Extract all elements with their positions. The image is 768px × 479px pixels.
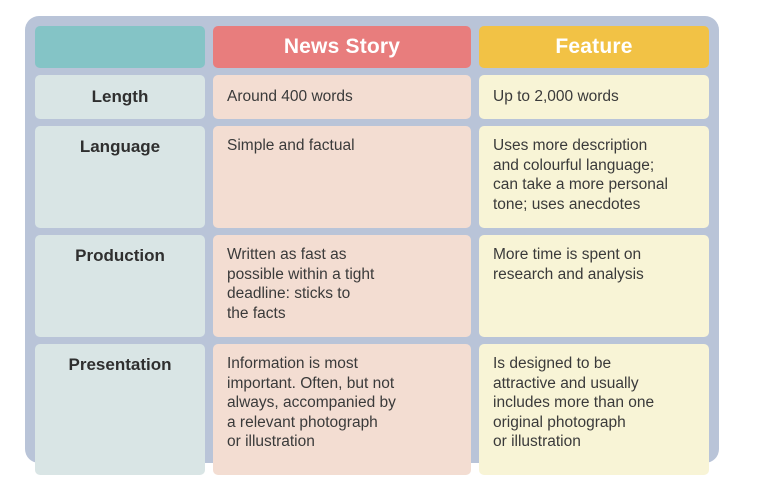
cell-language-feature-text: Uses more description and colourful lang… [493, 136, 695, 214]
comparison-table: News Story Feature Length Around 400 wor… [25, 16, 719, 463]
cell-presentation-feature-text: Is designed to be attractive and usually… [493, 354, 695, 452]
row-label-production: Production [35, 235, 205, 337]
cell-language-news-text: Simple and factual [227, 136, 457, 156]
table-header-corner [35, 26, 205, 68]
table-grid: News Story Feature Length Around 400 wor… [35, 26, 709, 453]
row-label-length: Length [35, 75, 205, 119]
row-label-language: Language [35, 126, 205, 228]
table-header-feature: Feature [479, 26, 709, 68]
header-feature-label: Feature [555, 35, 632, 59]
row-label-language-text: Language [80, 137, 160, 157]
cell-production-feature: More time is spent on research and analy… [479, 235, 709, 337]
table-header-news-story: News Story [213, 26, 471, 68]
cell-length-feature-text: Up to 2,000 words [493, 87, 619, 107]
row-label-presentation-text: Presentation [69, 355, 172, 375]
cell-length-news-text: Around 400 words [227, 87, 353, 107]
cell-presentation-news: Information is most important. Often, bu… [213, 344, 471, 475]
row-label-length-text: Length [92, 87, 149, 107]
cell-presentation-news-text: Information is most important. Often, bu… [227, 354, 457, 452]
cell-production-feature-text: More time is spent on research and analy… [493, 245, 695, 284]
row-label-production-text: Production [75, 246, 165, 266]
cell-language-news: Simple and factual [213, 126, 471, 228]
row-label-presentation: Presentation [35, 344, 205, 475]
cell-length-feature: Up to 2,000 words [479, 75, 709, 119]
header-news-story-label: News Story [284, 35, 400, 59]
cell-presentation-feature: Is designed to be attractive and usually… [479, 344, 709, 475]
cell-production-news-text: Written as fast as possible within a tig… [227, 245, 457, 323]
cell-length-news: Around 400 words [213, 75, 471, 119]
page-root: News Story Feature Length Around 400 wor… [0, 0, 768, 479]
cell-language-feature: Uses more description and colourful lang… [479, 126, 709, 228]
cell-production-news: Written as fast as possible within a tig… [213, 235, 471, 337]
